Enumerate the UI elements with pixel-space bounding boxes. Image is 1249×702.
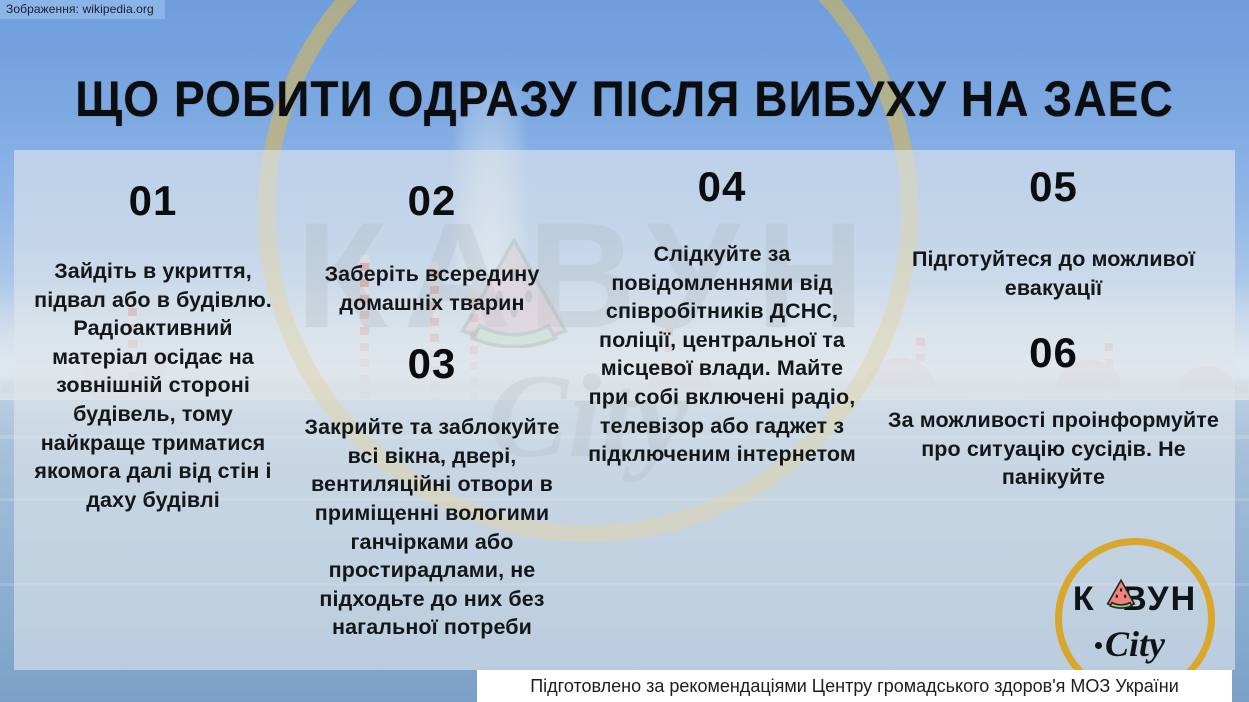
step-text-03: Закрийте та заблокуйте всі вікна, двері,…: [302, 413, 562, 642]
step-text-05: Підготуйтеся до можливої евакуації: [882, 245, 1225, 302]
step-number-02: 02: [302, 180, 562, 222]
step-number-05: 05: [882, 166, 1225, 208]
step-item-06: 06 За можливості проінформуйте про ситуа…: [882, 332, 1225, 492]
logo-letter-k: К: [1073, 580, 1096, 618]
step-text-01: Зайдіть в укриття, підвал або в будівлю.…: [24, 257, 282, 514]
step-item-01: 01 Зайдіть в укриття, підвал або в будів…: [24, 180, 282, 514]
step-number-04: 04: [582, 166, 862, 208]
step-item-04: 04 Слідкуйте за повідомленнями від співр…: [582, 166, 862, 469]
image-source-tag: Зображення: wikipedia.org: [0, 0, 165, 19]
step-number-03: 03: [302, 343, 562, 385]
watermelon-slice-icon: [1105, 578, 1137, 610]
step-item-03: 03 Закрийте та заблокуйте всі вікна, две…: [302, 343, 562, 642]
column-1: 01 Зайдіть в укриття, підвал або в будів…: [14, 150, 292, 670]
step-item-05: 05 Підготуйтеся до можливої евакуації: [882, 166, 1225, 302]
footer-caption: Підготовлено за рекомендаціями Центру гр…: [477, 670, 1232, 702]
step-item-02: 02 Заберіть всередину домашніх тварин: [302, 180, 562, 317]
content-panel: 01 Зайдіть в укриття, підвал або в будів…: [14, 150, 1235, 670]
column-2: 02 Заберіть всередину домашніх тварин 03…: [292, 150, 572, 670]
step-number-01: 01: [24, 180, 282, 222]
step-text-04: Слідкуйте за повідомленнями від співробі…: [582, 240, 862, 469]
step-text-06: За можливості проінформуйте про ситуацію…: [882, 406, 1225, 492]
column-3: 04 Слідкуйте за повідомленнями від співр…: [572, 150, 872, 670]
step-number-06: 06: [882, 332, 1225, 374]
infographic-poster: КАВУН City Зображення: wikipedia.org ЩО …: [0, 0, 1249, 702]
page-title: ЩО РОБИТИ ОДРАЗУ ПІСЛЯ ВИБУХУ НА ЗАЕС: [50, 70, 1199, 128]
step-text-02: Заберіть всередину домашніх тварин: [302, 260, 562, 317]
logo-city-text: City: [1055, 626, 1215, 662]
